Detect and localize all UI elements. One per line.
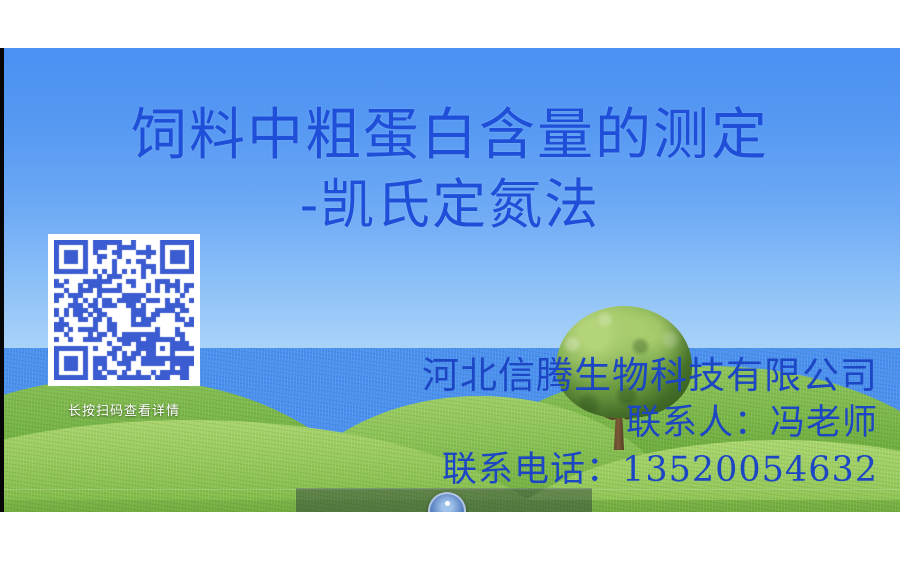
- screenshot-root: 饲料中粗蛋白含量的测定 -凯氏定氮法 长按扫码查看详情 河北信腾生物科技有限公司…: [0, 0, 900, 561]
- spinner-dot: [445, 501, 450, 506]
- contact-person: 联系人：冯老师: [422, 405, 878, 442]
- qr-code-caption: 长按扫码查看详情: [48, 400, 200, 419]
- title-line-2: -凯氏定氮法: [0, 178, 900, 232]
- title-line-1: 饲料中粗蛋白含量的测定: [0, 108, 900, 164]
- qr-code-image[interactable]: [54, 240, 194, 380]
- qr-code-block[interactable]: 长按扫码查看详情: [48, 234, 200, 419]
- frame-left-border: [0, 48, 4, 512]
- video-title: 饲料中粗蛋白含量的测定 -凯氏定氮法: [0, 108, 900, 232]
- contact-phone: 联系电话：13520054632: [422, 452, 878, 489]
- company-name: 河北信腾生物科技有限公司: [422, 356, 878, 395]
- company-info-block: 河北信腾生物科技有限公司 联系人：冯老师 联系电话：13520054632: [422, 356, 878, 489]
- qr-code-card[interactable]: [48, 234, 200, 386]
- video-player[interactable]: 饲料中粗蛋白含量的测定 -凯氏定氮法 长按扫码查看详情 河北信腾生物科技有限公司…: [0, 48, 900, 512]
